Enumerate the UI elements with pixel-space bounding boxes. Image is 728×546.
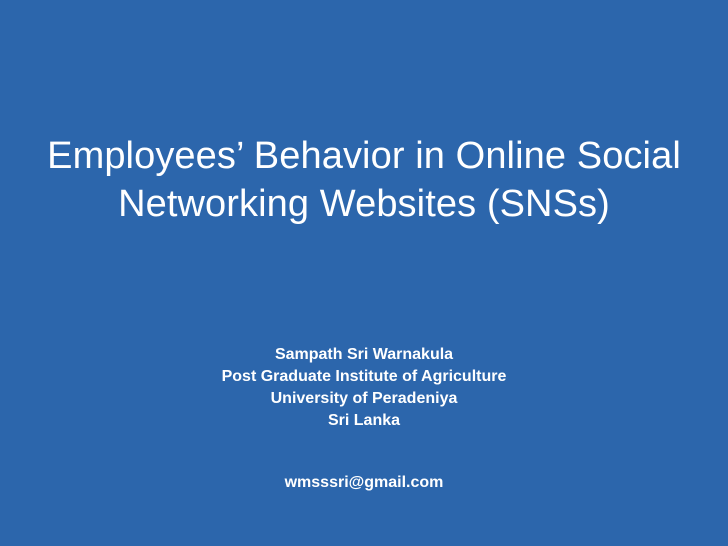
author-name: Sampath Sri Warnakula <box>0 344 728 366</box>
author-institute: Post Graduate Institute of Agriculture <box>0 366 728 388</box>
contact-block: wmsssri@gmail.com <box>0 472 728 494</box>
author-country: Sri Lanka <box>0 410 728 432</box>
slide-title: Employees’ Behavior in Online Social Net… <box>0 132 728 228</box>
author-university: University of Peradeniya <box>0 388 728 410</box>
title-slide: Employees’ Behavior in Online Social Net… <box>0 0 728 546</box>
slide-title-line-2: Networking Websites (SNSs) <box>0 180 728 228</box>
author-affiliation-block: Sampath Sri Warnakula Post Graduate Inst… <box>0 344 728 432</box>
slide-title-line-1: Employees’ Behavior in Online Social <box>0 132 728 180</box>
contact-email: wmsssri@gmail.com <box>0 472 728 494</box>
